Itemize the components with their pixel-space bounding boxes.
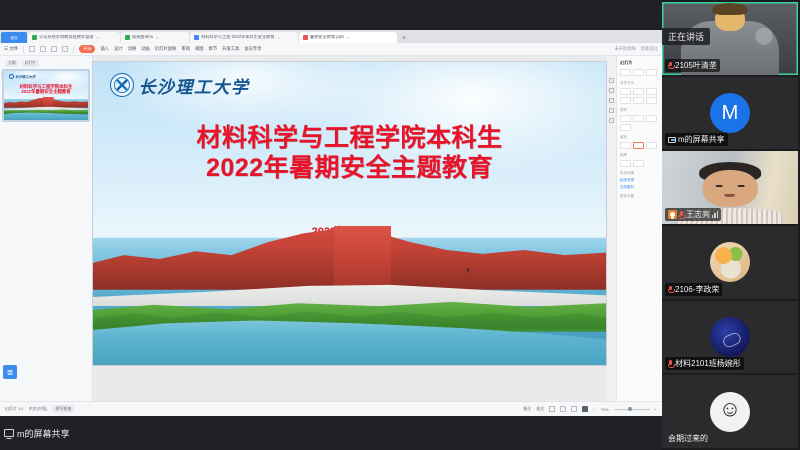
tile-person-hair (712, 3, 747, 15)
participant-name-badge: m的屏幕共享 (665, 133, 728, 146)
tool-icon[interactable] (646, 142, 657, 149)
browser-tab[interactable]: 公司系统学院教务处教学管理 × (28, 32, 120, 43)
person-eye (716, 185, 723, 186)
slide-canvas[interactable]: 长沙理工大学 材料科学与工程学院本科生 2022年暑期安全主题教育 2022年7… (93, 62, 606, 365)
participant-tile[interactable]: 王志亮 (662, 151, 798, 224)
tool-section-label: 排列 (620, 108, 659, 113)
ppt-ribbon[interactable]: 三 文件 开始 插入 设计 切换 动画 幻灯片放映 审阅 视图 章节 开发工具 … (0, 43, 662, 56)
tab-developer[interactable]: 开发工具 (222, 47, 239, 51)
tool-icon-selected[interactable] (633, 142, 644, 149)
thumbnail-tabs[interactable]: 大纲 幻灯片 (3, 60, 89, 70)
share-topbar (0, 0, 662, 30)
avatar: ☺ (710, 392, 750, 432)
share-status-label: m的屏幕共享 (17, 427, 70, 440)
browser-tab-label: 公司系统学院教务处教学管理 (39, 35, 93, 39)
resource-panel-icon[interactable] (609, 108, 614, 113)
avatar: M (710, 93, 750, 133)
save-icon[interactable] (29, 46, 35, 52)
university-logo: 长沙理工大学 (110, 73, 249, 98)
ppt-statusbar[interactable]: 幻灯片 1/1 中文(中国) 拼写检查 备注 批注 − 70% + (0, 401, 662, 416)
mic-muted-icon (668, 61, 673, 69)
participant-tile[interactable]: 正在讲话 2105叶清垄 (662, 2, 798, 75)
animation-panel-icon[interactable] (609, 88, 614, 93)
person-face (702, 170, 758, 206)
slide-title-line2: 2022年暑期安全主题教育 (93, 153, 606, 184)
resource-link[interactable]: 稻壳资源 (620, 178, 659, 183)
comments-button[interactable]: 批注 (536, 406, 544, 412)
tab-design[interactable]: 设计 (114, 47, 123, 51)
tool-icon[interactable] (646, 115, 657, 122)
mic-muted-icon (679, 211, 684, 219)
tool-section-align: 对齐方式 (620, 81, 659, 104)
tool-section-label: 更多设置 (620, 194, 659, 199)
participant-name: m的屏幕共享 (678, 134, 725, 145)
screen-share-icon (668, 137, 676, 143)
participant-sidebar[interactable]: 正在讲话 2105叶清垄 M m的屏幕共享 (662, 0, 800, 450)
university-name: 长沙理工大学 (138, 73, 249, 98)
undo-icon[interactable] (51, 46, 57, 52)
tab-favicon-icon (303, 35, 308, 40)
tool-icon[interactable] (620, 160, 631, 167)
browser-home-tab[interactable]: 首页 (1, 32, 27, 43)
browser-tab[interactable]: 材料科学与工程-2022年本科生安全教育 × (190, 32, 298, 43)
participant-name: 2106-李政荣 (675, 284, 719, 295)
avatar (710, 317, 750, 357)
tool-icon[interactable] (633, 69, 644, 76)
tool-icon[interactable] (620, 115, 631, 122)
audio-level-icon (712, 211, 718, 218)
participant-name: 材料2101班杨婉彤 (675, 358, 741, 369)
zoom-in-button[interactable]: + (655, 407, 657, 412)
slide-title: 材料科学与工程学院本科生 2022年暑期安全主题教育 (93, 123, 606, 184)
campus-photo (93, 226, 606, 365)
participant-tile[interactable]: M m的屏幕共享 (662, 77, 798, 150)
browser-tab-active[interactable]: 暑期安全教育.pptx × (299, 32, 397, 43)
reading-view-icon[interactable] (571, 406, 577, 412)
participant-name-badge: 2105叶清垄 (665, 59, 720, 72)
tool-icon[interactable] (646, 97, 657, 104)
slide-canvas-area[interactable]: 长沙理工大学 材料科学与工程学院本科生 2022年暑期安全主题教育 2022年7… (93, 56, 606, 401)
browser-tab-label: 材料科学与工程-2022年本科生安全教育 (201, 35, 275, 39)
tool-icon[interactable] (633, 160, 644, 167)
slide-thumbnail-panel[interactable]: 大纲 幻灯片 1 长沙理工大学 (0, 56, 93, 401)
cloud-panel-icon[interactable] (609, 118, 614, 123)
spellcheck-button[interactable]: 拼写检查 (52, 405, 74, 413)
slide-page-info: 幻灯片 1/1 (5, 406, 24, 412)
tab-outline[interactable]: 大纲 (5, 60, 19, 67)
tab-slideshow[interactable]: 幻灯片放映 (155, 47, 176, 51)
sorter-view-icon[interactable] (560, 406, 566, 412)
slideshow-status[interactable]: 未开始放映 (614, 47, 635, 51)
close-icon[interactable]: × (347, 35, 349, 40)
canvas-icon-rail[interactable] (606, 56, 616, 401)
browser-tab[interactable]: 成绩查询-w × (121, 32, 189, 43)
campus-tower (334, 226, 390, 287)
participant-name-badge: 材料2101班杨婉彤 (665, 357, 744, 370)
thumbnail-preview: 长沙理工大学 材料科学与工程学院本科生 2022年暑期安全主题教育 2022年7… (4, 71, 88, 120)
tool-icon[interactable] (646, 69, 657, 76)
home-tab-label: 首页 (10, 35, 17, 40)
share-status-badge: m的屏幕共享 (4, 427, 70, 440)
tool-icon[interactable] (620, 88, 631, 95)
shared-screen-area: 首页 公司系统学院教务处教学管理 × 成绩查询-w × 材料科学与工程-2022… (0, 0, 662, 450)
tool-section-arrange: 排列 (620, 108, 659, 131)
tab-start[interactable]: 开始 (79, 45, 95, 52)
tool-section-fill: 填充 (620, 135, 659, 149)
tab-animation[interactable]: 动画 (141, 47, 150, 51)
avatar-letter: M (722, 102, 739, 125)
participant-tile[interactable]: 2106-李政荣 (662, 226, 798, 299)
browser-tabstrip[interactable]: 首页 公司系统学院教务处教学管理 × 成绩查询-w × 材料科学与工程-2022… (0, 30, 662, 43)
tool-icon[interactable] (620, 124, 631, 131)
meeting-window: 首页 公司系统学院教务处教学管理 × 成绩查询-w × 材料科学与工程-2022… (0, 0, 800, 450)
close-icon[interactable]: × (278, 35, 280, 40)
tab-slides[interactable]: 幻灯片 (22, 60, 39, 67)
screen-share-icon (4, 429, 14, 437)
participant-name: 王志亮 (686, 209, 710, 220)
tab-favicon-icon (194, 35, 199, 40)
new-tab-button[interactable]: + (398, 35, 410, 43)
shared-desktop[interactable]: 首页 公司系统学院教务处教学管理 × 成绩查询-w × 材料科学与工程-2022… (0, 30, 662, 416)
redo-icon[interactable] (62, 46, 68, 52)
tool-icon[interactable] (633, 97, 644, 104)
slideshow-icon[interactable] (582, 406, 588, 412)
smart-beautify-button[interactable]: 智能美化 (641, 47, 658, 51)
notes-button[interactable]: 备注 (523, 406, 531, 412)
slide-title-line1: 材料科学与工程学院本科生 (93, 123, 606, 154)
participant-name-badge: 2106-李政荣 (665, 283, 722, 296)
tool-panel-title: 幻灯片 (620, 60, 659, 66)
share-bottom-bar: m的屏幕共享 (0, 416, 662, 450)
divider (73, 46, 74, 53)
tool-section-outline: 轮廓 (620, 153, 659, 167)
host-icon (668, 210, 677, 219)
tool-section-label: 对齐方式 (620, 81, 659, 86)
participant-name: 2105叶清垄 (675, 60, 717, 71)
participant-name-badge: 王志亮 (665, 208, 721, 221)
logo-seal-icon (9, 74, 14, 79)
tab-member[interactable]: 会员专享 (244, 47, 261, 51)
format-panel-icon[interactable] (609, 78, 614, 83)
tool-icon[interactable] (620, 69, 631, 76)
thumb-campus-photo (4, 97, 88, 119)
tool-icon[interactable] (620, 97, 631, 104)
normal-view-icon[interactable] (549, 406, 555, 412)
tool-icon[interactable] (633, 115, 644, 122)
person-mouth (724, 194, 735, 197)
participant-name-badge: 会期过来的 (665, 432, 711, 445)
close-icon[interactable]: × (96, 35, 98, 40)
participant-tile[interactable]: 材料2101班杨婉彤 (662, 301, 798, 374)
zoom-slider[interactable] (614, 409, 650, 410)
ppt-editor: 大纲 幻灯片 1 长沙理工大学 (0, 56, 662, 401)
tool-section-label: 轮廓 (620, 153, 659, 158)
tool-section-label: 形状效果 (620, 171, 659, 176)
file-menu-button[interactable]: 三 文件 (4, 47, 18, 51)
mic-muted-icon (668, 360, 673, 368)
thumb-title-2: 2022年暑期安全主题教育 (4, 89, 88, 95)
browser-tab-label: 暑期安全教育.pptx (310, 35, 344, 39)
ppt-tool-panel[interactable]: 幻灯片 对齐方式 (616, 56, 662, 401)
tab-transition[interactable]: 切换 (128, 47, 137, 51)
mic-muted-icon (668, 285, 673, 293)
speaking-banner: 正在讲话 (662, 28, 710, 45)
language-indicator[interactable]: 中文(中国) (29, 406, 48, 412)
avatar (710, 242, 750, 282)
thumbnail-add-button[interactable]: ≣ (3, 365, 17, 379)
tab-favicon-icon (125, 35, 130, 40)
selection-panel-icon[interactable] (609, 98, 614, 103)
tool-section-effects: 形状效果 稻壳资源 在线素材 (620, 171, 659, 190)
person-eye (738, 185, 745, 186)
tab-review[interactable]: 审阅 (181, 47, 190, 51)
slide-thumbnail-1[interactable]: 长沙理工大学 材料科学与工程学院本科生 2022年暑期安全主题教育 2022年7… (3, 70, 89, 121)
tab-section[interactable]: 章节 (209, 47, 218, 51)
logo-seal-icon (110, 73, 134, 97)
zoom-out-button[interactable]: − (593, 407, 595, 412)
participant-tile[interactable]: ☺ 会期过来的 (662, 375, 798, 448)
tab-view[interactable]: 视图 (195, 47, 204, 51)
close-icon[interactable]: × (156, 35, 158, 40)
thumb-logo-text: 长沙理工大学 (15, 74, 35, 79)
tab-favicon-icon (32, 35, 37, 40)
tool-icon[interactable] (620, 142, 631, 149)
tool-icon[interactable] (633, 88, 644, 95)
tab-insert[interactable]: 插入 (100, 47, 109, 51)
participant-name: 会期过来的 (668, 433, 708, 444)
divider (23, 46, 24, 53)
browser-tab-label: 成绩查询-w (132, 35, 153, 39)
tool-section-label: 填充 (620, 135, 659, 140)
slide-number: 1 (1, 72, 3, 76)
tool-icon[interactable] (646, 88, 657, 95)
online-material-link[interactable]: 在线素材 (620, 185, 659, 190)
zoom-level[interactable]: 70% (601, 407, 609, 412)
print-icon[interactable] (40, 46, 46, 52)
tile-overlay-graphic (741, 24, 787, 49)
avatar-letter: ☺ (719, 398, 741, 420)
